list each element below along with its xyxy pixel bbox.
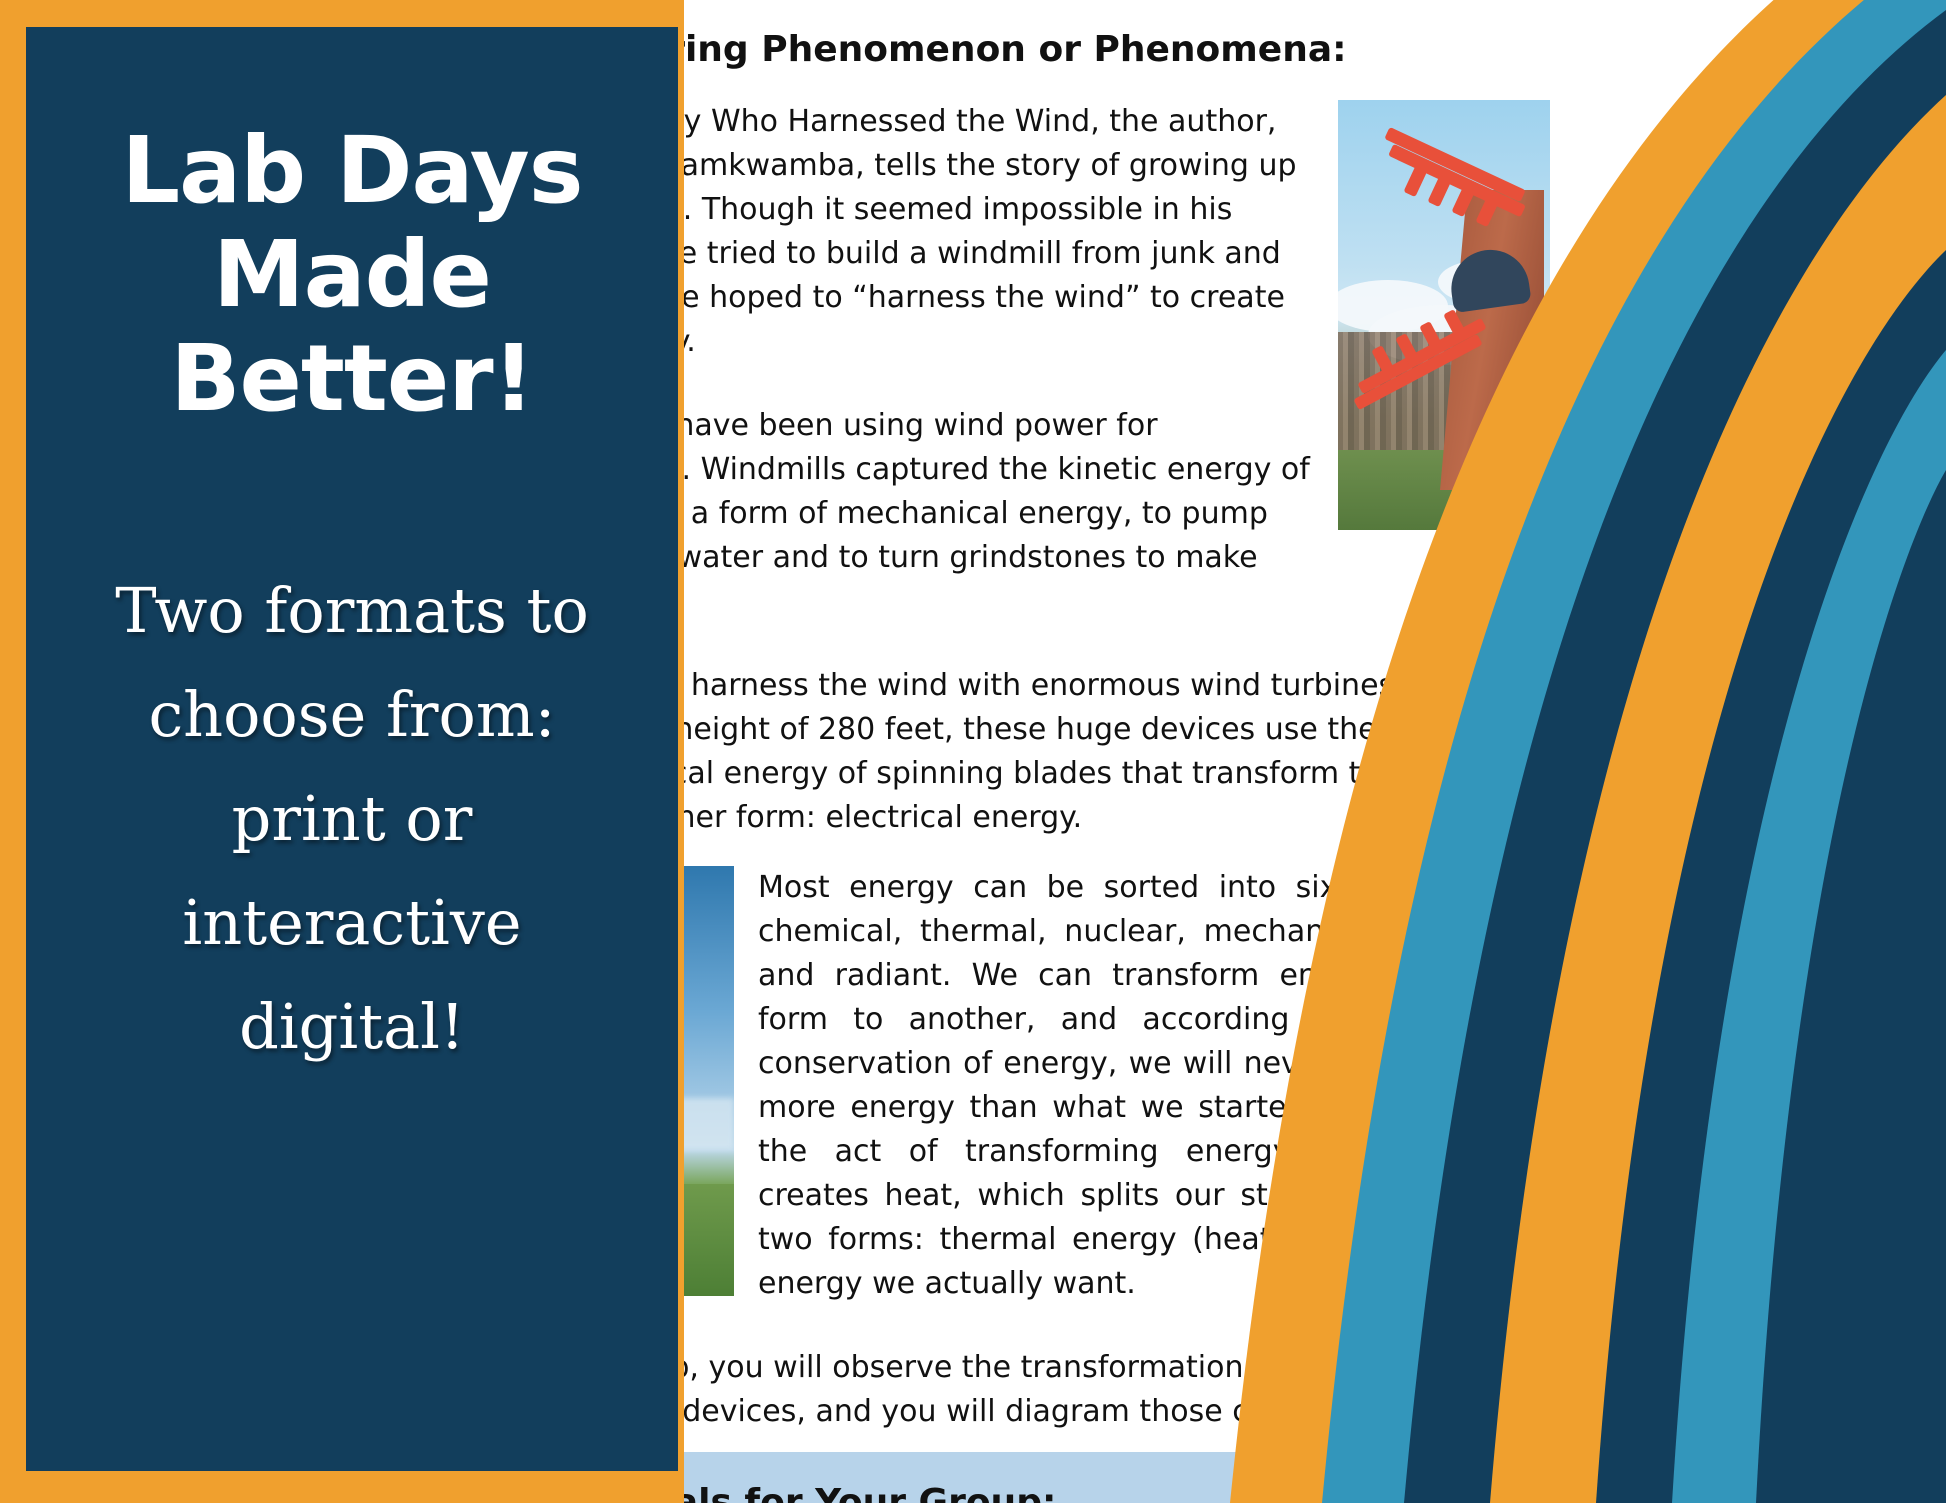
promo-title: Lab Days Made Better! (72, 119, 632, 431)
promo-navy-card: Lab Days Made Better! Two formats to cho… (26, 27, 678, 1471)
promo-subtitle: Two formats to choose from: print or int… (87, 559, 617, 1079)
promo-orange-frame: Lab Days Made Better! Two formats to cho… (0, 0, 684, 1503)
doc-paragraph-1-block: In The Boy Who Harnessed the Wind, the a… (542, 100, 1550, 624)
materials-band-label: Materials for Your Group: (542, 1482, 1562, 1503)
windmill-photo (1338, 100, 1550, 530)
teal-swoosh-inner (1672, 350, 1946, 1503)
doc-paragraph-4-block: Most energy can be sorted into six basic… (542, 866, 1550, 1306)
doc-section-heading: Anchoring Phenomenon or Phenomena: (542, 26, 1550, 74)
poster-canvas: ...energy transform as it moves though c… (0, 0, 1946, 1503)
navy-swoosh-inner (1596, 250, 1946, 1503)
navy-swoosh-core (1756, 470, 1946, 1503)
doc-paragraph-3: Today we harness the wind with enormous … (542, 664, 1550, 840)
doc-paragraph-5: In this lab, you will observe the transf… (542, 1346, 1550, 1434)
